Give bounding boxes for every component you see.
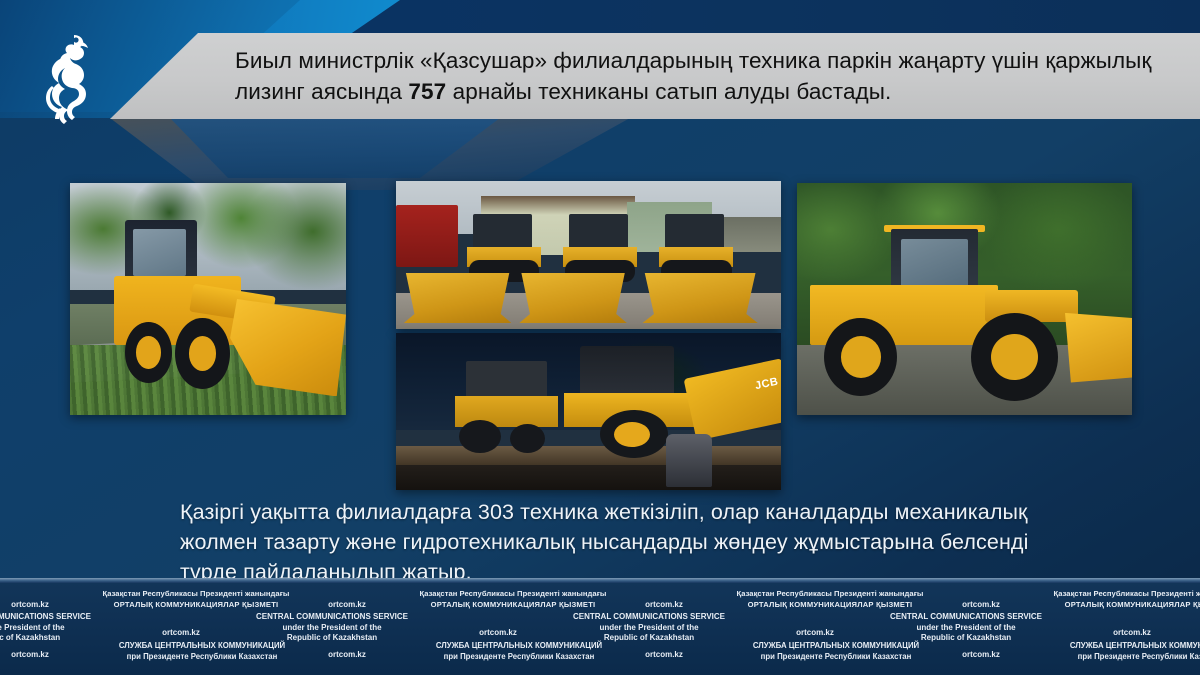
photo-three-loaders-lineup bbox=[396, 181, 781, 329]
footer-ru-block: СЛУЖБА ЦЕНТРАЛЬНЫХ КОММУНИКАЦИЙпри Прези… bbox=[1023, 640, 1200, 662]
snow-leopard-emblem-icon bbox=[30, 26, 104, 126]
header-headline: Биыл министрлік «Қазсушар» филиалдарының… bbox=[235, 45, 1178, 107]
footer-kk-line1: Қазақстан Республикасы Президенті жанынд… bbox=[700, 588, 960, 599]
footer-kk-line2: ОРТАЛЫҚ КОММУНИКАЦИЯЛАР ҚЫЗМЕТІ bbox=[700, 599, 960, 610]
footer-site-2[interactable]: ortcom.kz bbox=[1077, 628, 1187, 637]
footer-kk-line2: ОРТАЛЫҚ КОММУНИКАЦИЯЛАР ҚЫЗМЕТІ bbox=[383, 599, 643, 610]
jcb-brand-label: JCB bbox=[754, 375, 779, 392]
footer-kk-line1: Қазақстан Республикасы Президенті жанынд… bbox=[0, 588, 9, 599]
footer-tile: Қазақстан Республикасы Президенті жанынд… bbox=[696, 583, 1013, 675]
footer-site-2[interactable]: ortcom.kz bbox=[126, 628, 236, 637]
footer-kk-line2: ОРТАЛЫҚ КОММУНИКАЦИЯЛАР ҚЫЗМЕТІ bbox=[66, 599, 326, 610]
footer-ru-line1: СЛУЖБА ЦЕНТРАЛЬНЫХ КОММУНИКАЦИЙ bbox=[1023, 640, 1200, 651]
footer-kk-block: Қазақстан Республикасы Президенті жанынд… bbox=[383, 588, 643, 610]
footer-tile: Қазақстан Республикасы Президенті жанынд… bbox=[1013, 583, 1200, 675]
header-banner: Биыл министрлік «Қазсушар» филиалдарының… bbox=[110, 33, 1200, 119]
footer-tile: Қазақстан Республикасы Президенті жанынд… bbox=[62, 583, 379, 675]
footer-en-line1: CENTRAL COMMUNICATIONS SERVICE bbox=[1153, 612, 1200, 623]
footer-kk-line1: Қазақстан Республикасы Президенті жанынд… bbox=[1017, 588, 1200, 599]
presentation-slide: Биыл министрлік «Қазсушар» филиалдарының… bbox=[0, 0, 1200, 675]
footer-kk-block: Қазақстан Республикасы Президенті жанынд… bbox=[700, 588, 960, 610]
headline-number: 757 bbox=[408, 79, 446, 104]
footer-tile: Қазақстан Республикасы Президенті жанынд… bbox=[379, 583, 696, 675]
footer-ru-line2: при Президенте Республики Казахстан bbox=[1023, 651, 1200, 662]
photo-wheel-loader-on-road bbox=[70, 183, 346, 415]
footer-site-2[interactable]: ortcom.kz bbox=[443, 628, 553, 637]
footer-watermark-strip: Қазақстан Республикасы Президенті жанынд… bbox=[0, 583, 1200, 675]
footer-site-2[interactable]: ortcom.kz bbox=[760, 628, 870, 637]
photo-jcb-loading-at-night: JCB bbox=[396, 333, 781, 490]
headline-part2: арнайы техниканы сатып алуды бастады. bbox=[446, 79, 891, 104]
footer-kk-block: Қазақстан Республикасы Президенті жанынд… bbox=[1017, 588, 1200, 610]
footer-tile: Қазақстан Республикасы Президенті жанынд… bbox=[0, 583, 62, 675]
slide-caption: Қазіргі уақытта филиалдарға 303 техника … bbox=[180, 497, 1060, 587]
footer-kk-block: Қазақстан Республикасы Президенті жанынд… bbox=[66, 588, 326, 610]
footer-kk-line1: Қазақстан Республикасы Президенті жанынд… bbox=[66, 588, 326, 599]
footer-kk-line2: ОРТАЛЫҚ КОММУНИКАЦИЯЛАР ҚЫЗМЕТІ bbox=[1017, 599, 1200, 610]
footer-kk-line1: Қазақстан Республикасы Президенті жанынд… bbox=[383, 588, 643, 599]
photo-loader-among-trees bbox=[797, 183, 1132, 415]
